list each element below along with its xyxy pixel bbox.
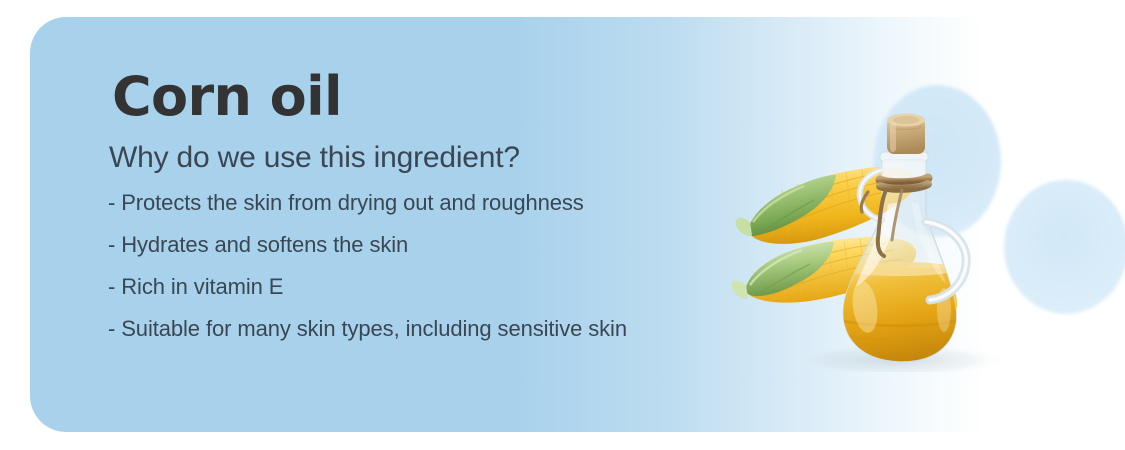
list-item: - Protects the skin from drying out and …: [108, 192, 812, 214]
list-item: - Rich in vitamin E: [108, 276, 812, 298]
subtitle: Why do we use this ingredient?: [109, 140, 812, 176]
ingredient-banner: Corn oil Why do we use this ingredient? …: [0, 0, 1125, 450]
corn-oil-bottle-photo: [730, 72, 1050, 372]
cork-stopper: [887, 114, 925, 155]
ingredient-text-block: Corn oil Why do we use this ingredient? …: [112, 69, 812, 340]
ingredient-card: Corn oil Why do we use this ingredient? …: [30, 17, 1090, 432]
list-item: - Hydrates and softens the skin: [108, 234, 812, 256]
benefit-list: - Protects the skin from drying out and …: [108, 192, 812, 340]
page-title: Corn oil: [112, 69, 812, 126]
list-item: - Suitable for many skin types, includin…: [108, 318, 812, 340]
